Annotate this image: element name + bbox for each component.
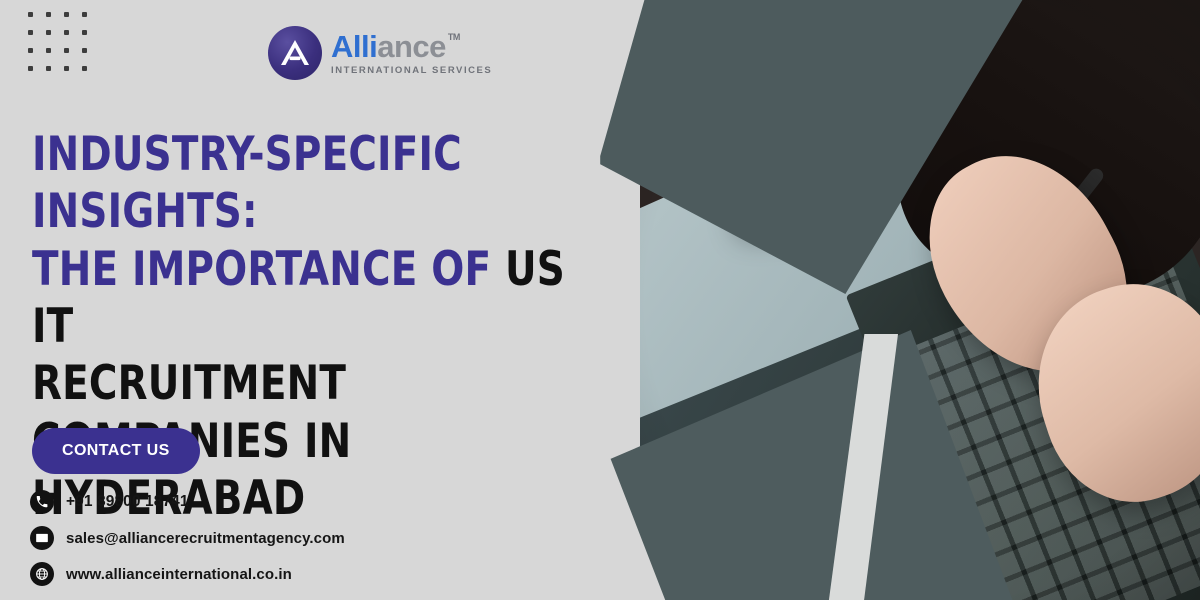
email-address: sales@alliancerecruitmentagency.com	[66, 530, 345, 547]
brand-wordmark-blue: Alli	[331, 31, 377, 62]
decorative-dot-grid	[28, 12, 100, 84]
globe-icon	[30, 562, 54, 586]
contact-row-phone[interactable]: +91 89800 18741	[30, 490, 345, 514]
brand-logo-text: AllianceTM INTERNATIONAL SERVICES	[331, 31, 492, 76]
alliance-a-monogram-icon	[268, 26, 322, 80]
brand-tagline: INTERNATIONAL SERVICES	[331, 66, 492, 76]
trademark-symbol: TM	[448, 33, 460, 42]
headline-line-2-accent: THE IMPORTANCE OF	[32, 242, 505, 297]
contact-us-button[interactable]: CONTACT US	[32, 428, 200, 474]
promo-banner: AllianceTM INTERNATIONAL SERVICES INDUST…	[0, 0, 1200, 600]
contact-row-email[interactable]: sales@alliancerecruitmentagency.com	[30, 526, 345, 550]
contact-row-website[interactable]: www.allianceinternational.co.in	[30, 562, 345, 586]
brand-wordmark: AllianceTM	[331, 31, 492, 62]
brand-logo[interactable]: AllianceTM INTERNATIONAL SERVICES	[268, 26, 492, 80]
contact-details: +91 89800 18741 sales@alliancerecruitmen…	[30, 490, 345, 586]
headline-line-1: INDUSTRY-SPECIFIC INSIGHTS:	[32, 127, 462, 239]
website-url: www.allianceinternational.co.in	[66, 566, 292, 583]
phone-icon	[30, 490, 54, 514]
brand-wordmark-gray: ance	[377, 31, 446, 62]
envelope-icon	[30, 526, 54, 550]
phone-number: +91 89800 18741	[66, 493, 189, 511]
